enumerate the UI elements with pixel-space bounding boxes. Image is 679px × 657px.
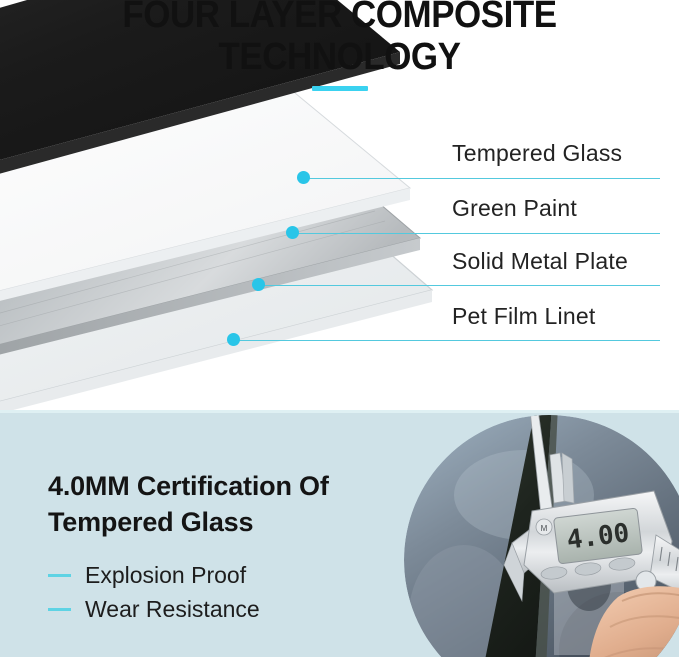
callout-label-tempered-glass: Tempered Glass [452,140,622,167]
title-line-2: TECHNOLOGY [27,36,652,78]
title-accent-underline [312,86,368,91]
section-title: FOUR LAYER COMPOSITE TECHNOLOGY [0,0,679,91]
dash-bullet-icon [48,608,71,611]
bullet-label-wear-resistance: Wear Resistance [85,596,260,623]
callout-rule-2 [292,233,660,234]
caliper-photo: 4.00 M [404,415,679,657]
product-infographic: FOUR LAYER COMPOSITE TECHNOLOGY Tempered… [0,0,679,657]
panel-top-edge [0,410,679,413]
callout-dot-4 [227,333,240,346]
svg-text:M: M [541,524,548,533]
certification-panel: 4.0MM Certification Of Tempered Glass Ex… [0,410,679,657]
feature-bullet-list: Explosion Proof Wear Resistance [48,558,408,626]
title-line-1: FOUR LAYER COMPOSITE [27,0,652,36]
list-item: Wear Resistance [48,592,408,626]
callout-dot-1 [297,171,310,184]
callout-label-green-paint: Green Paint [452,195,577,222]
callout-label-pet-film-linet: Pet Film Linet [452,303,595,330]
panel-heading: 4.0MM Certification Of Tempered Glass [48,468,398,540]
callout-rule-4 [233,340,660,341]
bullet-label-explosion-proof: Explosion Proof [85,562,246,589]
panel-heading-line-1: 4.0MM Certification Of [48,468,398,504]
panel-heading-line-2: Tempered Glass [48,504,398,540]
layer-technology-section: FOUR LAYER COMPOSITE TECHNOLOGY Tempered… [0,0,679,410]
callout-dot-3 [252,278,265,291]
callout-rule-1 [303,178,660,179]
callout-label-solid-metal-plate: Solid Metal Plate [452,248,628,275]
list-item: Explosion Proof [48,558,408,592]
callout-rule-3 [258,285,660,286]
callout-dot-2 [286,226,299,239]
dash-bullet-icon [48,574,71,577]
